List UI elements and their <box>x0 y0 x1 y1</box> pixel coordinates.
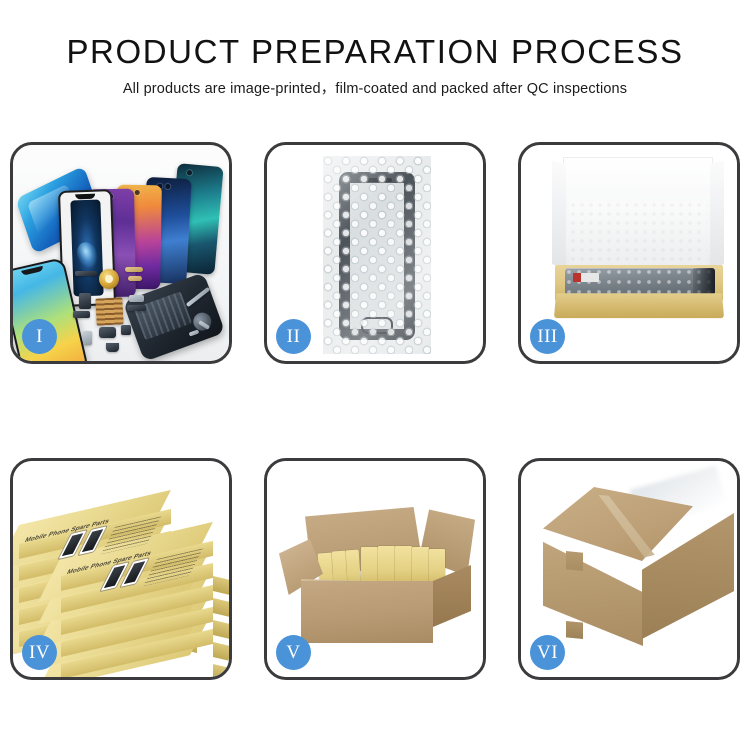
process-step-card-2[interactable]: II <box>264 142 486 364</box>
step-badge-3: III <box>530 319 565 354</box>
step-badge-2: II <box>276 319 311 354</box>
chip-grid-part-icon <box>95 297 123 325</box>
process-step-card-3[interactable]: III <box>518 142 740 364</box>
process-step-card-5[interactable]: V <box>264 458 486 680</box>
step-badge-6: VI <box>530 635 565 670</box>
process-step-card-4[interactable]: Mobile Phone Spare Parts Mobile Phone Sp… <box>10 458 232 680</box>
step-3-image: III <box>521 145 737 361</box>
page-header: PRODUCT PREPARATION PROCESS All products… <box>0 0 750 99</box>
foam-lining-icon <box>569 201 707 267</box>
step-5-image: V <box>267 461 483 677</box>
packed-screen-icon <box>565 268 715 295</box>
bubble-wrapped-screen-icon <box>323 156 431 354</box>
step-badge-5: V <box>276 635 311 670</box>
carton-tab-lower-icon <box>566 621 583 639</box>
page-subtitle: All products are image-printed，film-coat… <box>0 79 750 99</box>
step-6-image: VI <box>521 461 737 677</box>
carton-tab-upper-icon <box>566 551 583 571</box>
step-1-image: I <box>13 145 229 361</box>
carton-body-icon <box>301 581 433 643</box>
process-step-card-6[interactable]: VI <box>518 458 740 680</box>
page-title: PRODUCT PREPARATION PROCESS <box>0 33 750 71</box>
step-2-image: II <box>267 145 483 361</box>
step-badge-1: I <box>22 319 57 354</box>
mailer-tray-front-icon <box>554 293 724 318</box>
wireless-coil-part-icon <box>99 269 119 289</box>
process-step-card-1[interactable]: I <box>10 142 232 364</box>
step-4-image: Mobile Phone Spare Parts Mobile Phone Sp… <box>13 461 229 677</box>
process-steps-grid: I II III <box>10 142 740 680</box>
step-badge-4: IV <box>22 635 57 670</box>
